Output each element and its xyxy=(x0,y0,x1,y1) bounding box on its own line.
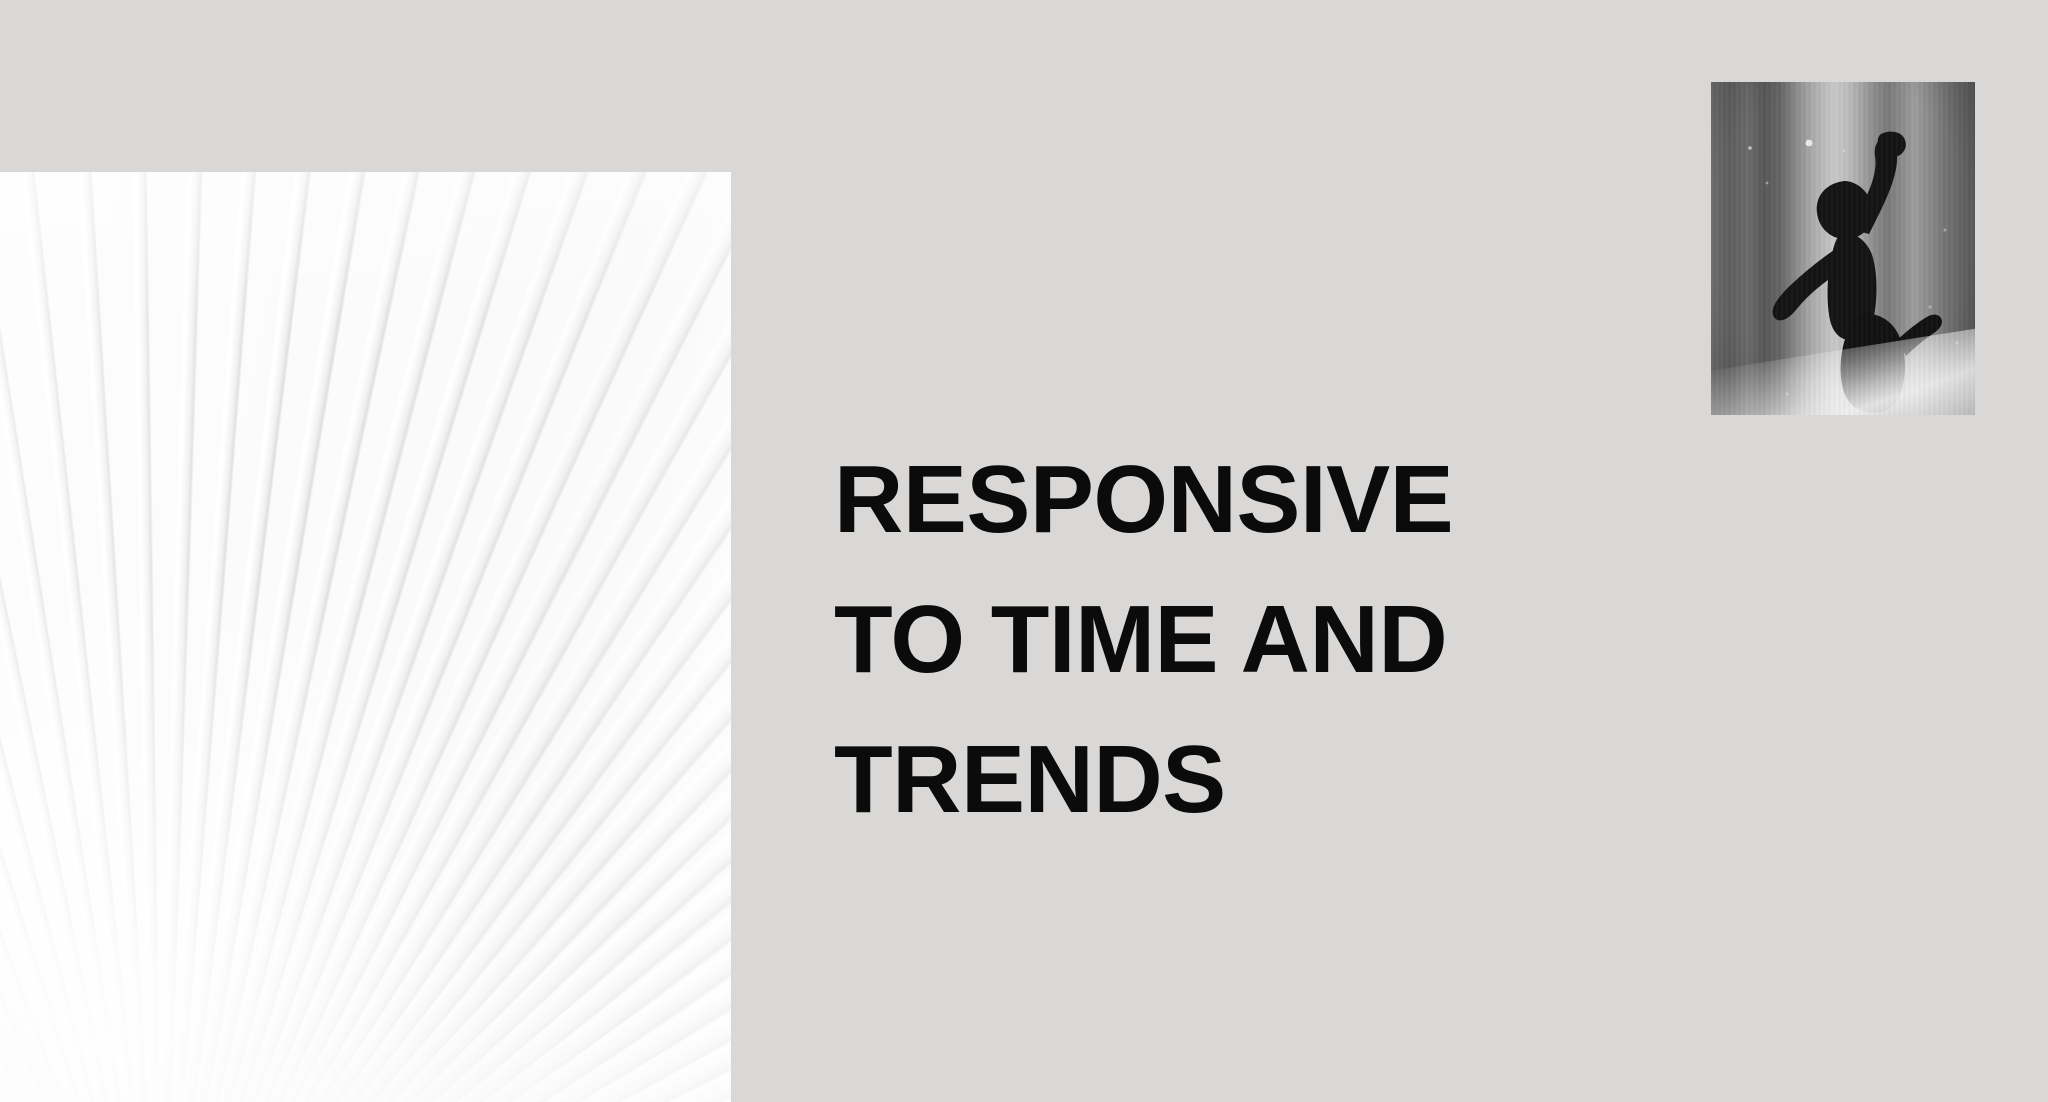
architecture-photo xyxy=(0,172,731,1102)
headline-line-2: TO TIME AND xyxy=(834,570,1654,710)
headline-line-3: TRENDS xyxy=(834,710,1654,850)
dancer-thumbnail xyxy=(1711,82,1975,415)
architecture-photo-ribs xyxy=(0,172,731,1102)
slide-canvas: RESPONSIVE TO TIME AND TRENDS xyxy=(0,0,2048,1102)
headline: RESPONSIVE TO TIME AND TRENDS xyxy=(834,430,1654,850)
dancer-silhouette-icon xyxy=(1711,82,1975,415)
headline-line-1: RESPONSIVE xyxy=(834,430,1654,570)
architecture-rib xyxy=(117,172,165,1102)
